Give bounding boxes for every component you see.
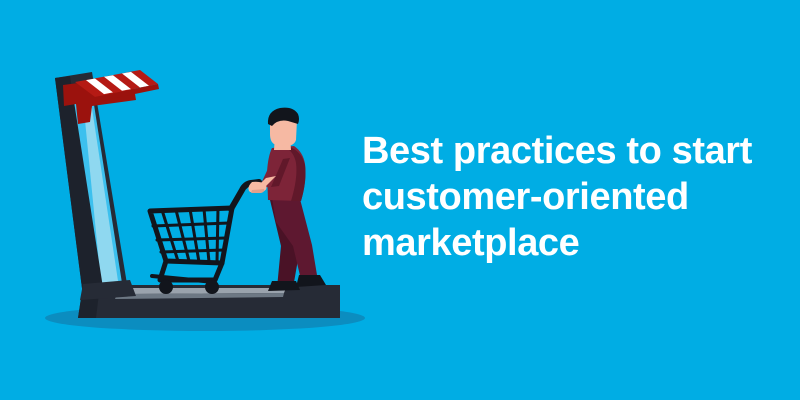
keyboard-key-row-light [117,288,286,294]
marketing-banner: Best practices to start customer-oriente… [0,0,800,400]
man-figure [248,108,326,291]
shopping-cart [150,182,259,282]
headline-line-3: marketplace [362,220,782,266]
cart-wheel-front [159,280,173,294]
man-front-shoe [296,275,326,287]
headline-line-2: customer-oriented [362,174,782,220]
cart-wheel-rear [205,280,219,294]
laptop-screen [55,72,136,300]
man-back-shoe [268,281,300,291]
headline-line-1: Best practices to start [362,128,782,174]
cart-basket-mesh-vertical [162,208,218,262]
page-title: Best practices to start customer-oriente… [362,128,782,266]
online-marketplace-illustration [0,0,400,400]
